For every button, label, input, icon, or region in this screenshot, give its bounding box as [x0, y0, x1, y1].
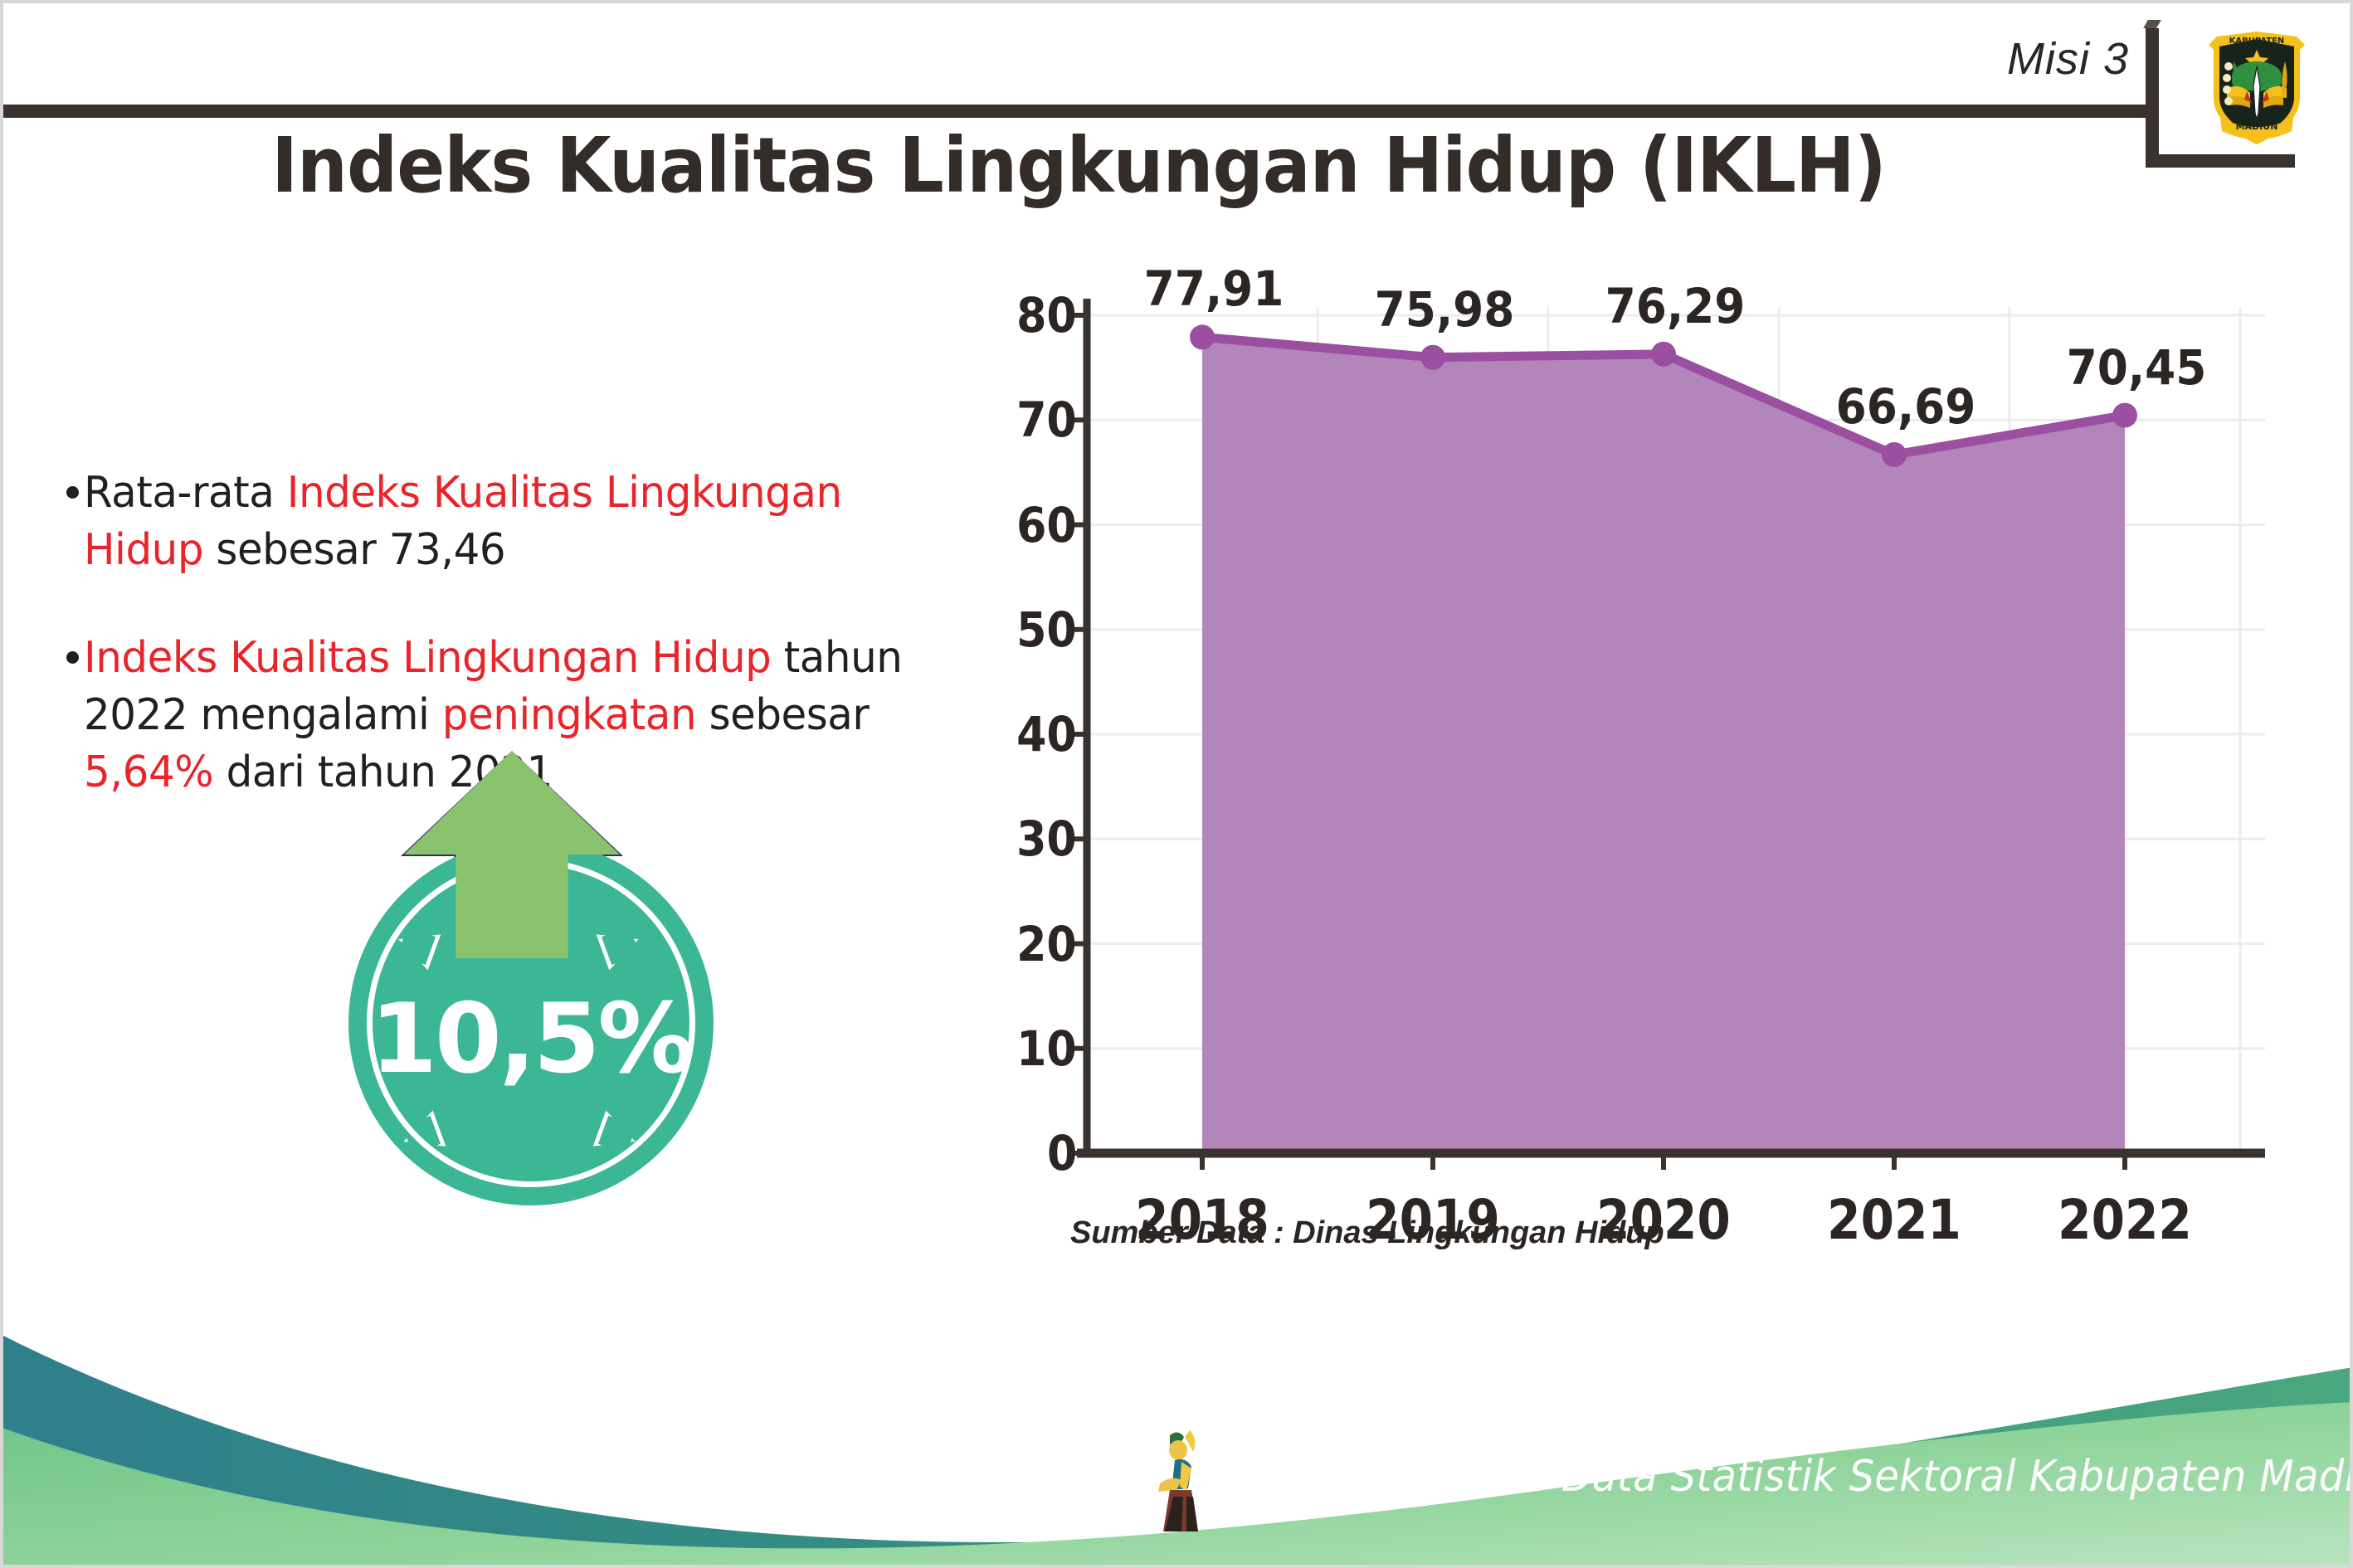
logo-bracket-vertical	[2146, 28, 2159, 168]
mascot-dancer-icon	[1145, 1425, 1225, 1535]
data-point-label: 77,91	[1144, 261, 1284, 317]
logo-bracket-horizontal	[2146, 154, 2295, 168]
bullet-dot-icon	[66, 486, 79, 499]
data-point-label: 75,98	[1375, 281, 1515, 338]
highlighted-text: Indeks Kualitas Lingkungan Hidup	[84, 633, 771, 683]
chart-source-caption: Sumber Data : Dinas Lingkungan Hidup	[1070, 1215, 1664, 1251]
logo-top-text: KABUPATEN	[2229, 37, 2285, 46]
footer: Media Infografis Data Statistik Sektoral…	[0, 1303, 2353, 1568]
y-axis-tick-label: 70	[1016, 392, 1077, 448]
data-point-marker	[2112, 403, 2137, 428]
area-fill	[1202, 337, 2125, 1153]
data-point-marker	[1420, 345, 1445, 370]
highlighted-text: 5,64%	[84, 747, 213, 797]
data-point-label: 76,29	[1605, 278, 1746, 334]
y-axis-tick-label: 50	[1016, 601, 1077, 658]
y-axis-tick-label: 40	[1016, 706, 1077, 762]
data-point-marker	[1882, 442, 1907, 467]
iklh-area-chart: 01020304050607080 20182019202020212022 7…	[971, 299, 2265, 1278]
data-point-label: 70,45	[2067, 339, 2207, 396]
plain-text: sebesar	[696, 690, 869, 740]
kabupaten-madiun-logo-icon: MADIUN KABUPATEN	[2199, 15, 2315, 154]
chart-canvas	[971, 299, 2265, 1170]
y-axis-tick-label: 60	[1016, 497, 1077, 553]
y-axis-tick-label: 20	[1016, 916, 1077, 972]
badge-value: 10,5%	[348, 983, 714, 1095]
data-point-marker	[1651, 342, 1676, 367]
y-axis-tick-label: 80	[1016, 287, 1077, 343]
data-point-marker	[1190, 324, 1215, 349]
footer-text: Media Infografis Data Statistik Sektoral…	[1224, 1452, 2353, 1502]
increase-badge: 10,5%	[328, 751, 776, 1215]
y-axis-tick-label: 10	[1016, 1020, 1077, 1077]
plain-text: sebesar 73,46	[203, 525, 505, 575]
y-axis-tick-label: 30	[1016, 811, 1077, 867]
highlighted-text: peningkatan	[442, 690, 696, 740]
page-title: Indeks Kualitas Lingkungan Hidup (IKLH)	[76, 121, 2082, 210]
mission-label: Misi 3	[2007, 33, 2129, 85]
bullet-dot-icon	[66, 651, 79, 664]
header-rule	[0, 105, 2154, 118]
insight-bullet-1-text: Rata-rata Indeks Kualitas Lingkungan Hid…	[84, 465, 911, 578]
insight-bullet-1: Rata-rata Indeks Kualitas Lingkungan Hid…	[66, 465, 946, 578]
x-axis-tick-label: 2021	[1827, 1188, 1961, 1252]
y-axis-tick-label: 0	[1047, 1125, 1077, 1181]
data-point-label: 66,69	[1836, 378, 1976, 435]
logo-bottom-text: MADIUN	[2236, 121, 2278, 132]
plain-text: Rata-rata	[84, 468, 287, 518]
x-axis-tick-label: 2022	[2058, 1188, 2192, 1252]
